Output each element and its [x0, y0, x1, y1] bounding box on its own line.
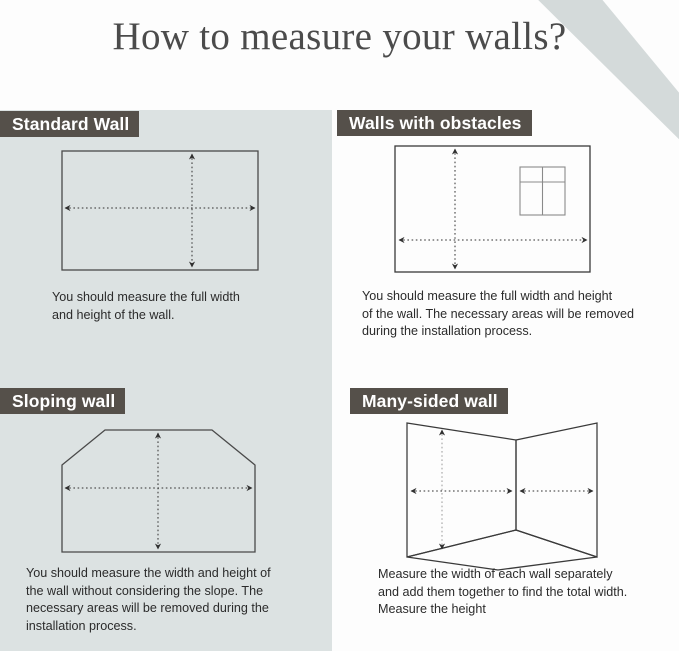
infographic-page: How to measure your walls? Standard Wall… — [0, 0, 679, 651]
caption-many-sided-wall: Measure the width of each wall separatel… — [378, 566, 668, 619]
wall-outline-sloping — [62, 430, 255, 552]
caption-sloping-wall: You should measure the width and height … — [26, 565, 314, 635]
diagram-standard-wall — [40, 140, 280, 280]
caption-standard-wall: You should measure the full width and he… — [52, 289, 302, 324]
wall-outline-right — [516, 423, 597, 557]
caption-walls-with-obstacles: You should measure the full width and he… — [362, 288, 662, 341]
diagram-walls-with-obstacles — [385, 140, 615, 280]
diagram-many-sided-wall — [380, 410, 630, 570]
section-badge-sloping-wall: Sloping wall — [0, 388, 125, 414]
page-title: How to measure your walls? — [0, 14, 679, 59]
section-badge-walls-with-obstacles: Walls with obstacles — [337, 110, 532, 136]
wall-outline-obstacles — [395, 146, 590, 272]
diagram-sloping-wall — [40, 418, 280, 563]
wall-outline-left — [407, 423, 516, 557]
wall-outline-standard — [62, 151, 258, 270]
floor-outline — [407, 530, 597, 570]
section-badge-standard-wall: Standard Wall — [0, 111, 139, 137]
window-obstacle-icon — [520, 167, 565, 215]
